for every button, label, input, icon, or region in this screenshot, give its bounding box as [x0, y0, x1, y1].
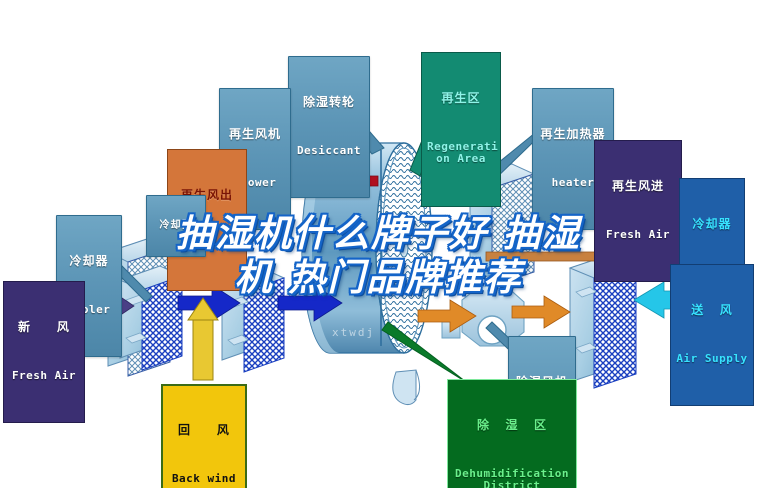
- label-regeneration-area: 再生区 Regenerati on Area: [421, 52, 501, 207]
- label-air-supply: 送 风 Air Supply: [670, 264, 754, 406]
- label-cooler-right-cn: 冷却器: [685, 218, 739, 231]
- label-air-supply-cn: 送 风: [676, 304, 748, 317]
- label-fresh-air-in: 新 风 Fresh Air: [3, 281, 85, 423]
- label-regeneration-fresh-air-in-cn: 再生风进: [601, 180, 675, 193]
- label-dehumidification-district-cn: 除 湿 区: [454, 419, 570, 432]
- label-regeneration-fresh-air-in: 再生风进 Fresh Air: [594, 140, 682, 282]
- label-back-wind-cn: 回 风: [169, 424, 239, 437]
- label-fresh-air-in-cn: 新 风: [10, 321, 78, 334]
- label-dehumidification-district-en: Dehumidification District: [454, 468, 570, 488]
- label-regeneration-blower-cn: 再生风机: [225, 128, 285, 141]
- diagram-canvas: 除湿转轮 Desiccant 再生风机 Blower 再生区 Regenerat…: [0, 0, 757, 488]
- label-desiccant-rotor: 除湿转轮 Desiccant: [288, 56, 370, 198]
- label-fresh-air-in-en: Fresh Air: [10, 370, 78, 382]
- condensate-drain: [393, 370, 420, 405]
- label-regeneration-fresh-air-in-en: Fresh Air: [601, 229, 675, 241]
- label-air-supply-en: Air Supply: [676, 353, 748, 365]
- label-desiccant-rotor-en: Desiccant: [294, 145, 364, 157]
- label-cooler-left-cn: 冷却器: [62, 255, 116, 268]
- label-back-wind-en: Back wind: [169, 473, 239, 485]
- label-dehumidification-district: 除 湿 区 Dehumidification District: [447, 379, 577, 488]
- label-regeneration-area-en: Regenerati on Area: [427, 141, 495, 166]
- label-desiccant-rotor-cn: 除湿转轮: [294, 96, 364, 109]
- label-regeneration-area-cn: 再生区: [427, 92, 495, 105]
- label-back-wind: 回 风 Back wind: [161, 384, 247, 488]
- label-cooler-mid: 冷却器: [146, 195, 206, 257]
- label-cooler-mid-cn: 冷却器: [151, 220, 201, 231]
